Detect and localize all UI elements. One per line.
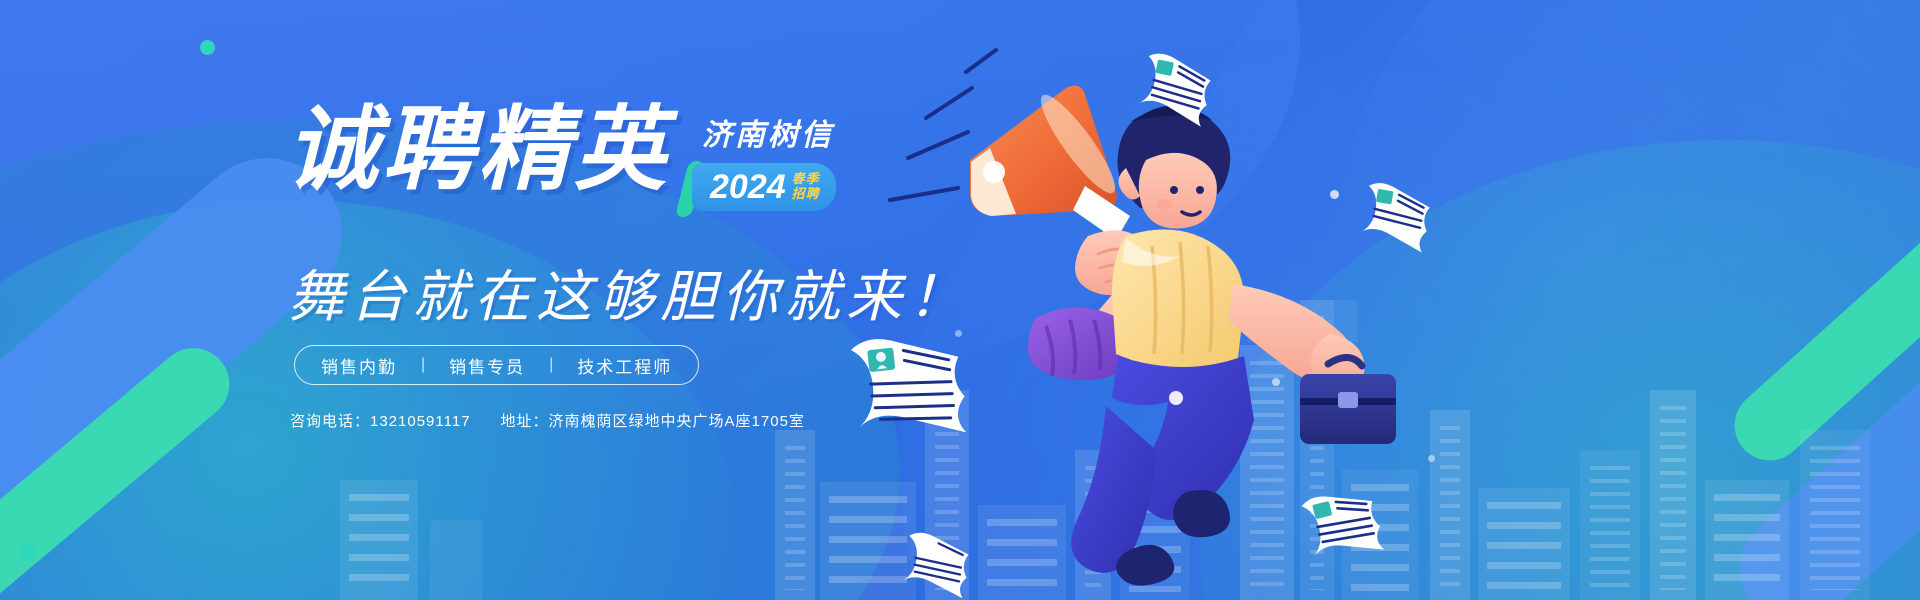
character-arm-extended <box>1228 284 1365 389</box>
building-silhouette <box>1800 430 1870 600</box>
headline-row: 诚聘精英 济南树信 2024 春季 招聘 <box>286 104 836 211</box>
banner-text-content: 诚聘精英 济南树信 2024 春季 招聘 舞台就在这够胆你就来！ 销售内勤 <box>0 0 900 600</box>
brand-name: 济南树信 <box>702 110 836 154</box>
recruitment-banner: 诚聘精英 济南树信 2024 春季 招聘 舞台就在这够胆你就来！ 销售内勤 <box>0 0 1920 600</box>
character-torso <box>1112 230 1244 369</box>
megaphone-icon <box>970 86 1130 240</box>
resume-paper <box>1359 181 1433 253</box>
resume-paper <box>1300 484 1385 567</box>
tag-separator: | <box>421 356 425 374</box>
building-silhouette <box>1478 488 1570 600</box>
contact-address: 地址：济南槐荫区绿地中央广场A座1705室 <box>501 410 805 431</box>
resume-paper <box>902 531 972 598</box>
recruitment-badge: 2024 春季 招聘 <box>688 163 836 211</box>
contact-info: 咨询电话：13210591117 地址：济南槐荫区绿地中央广场A座1705室 <box>290 410 805 431</box>
building-silhouette <box>1705 480 1789 600</box>
job-tag-technical-engineer[interactable]: 技术工程师 <box>577 353 672 378</box>
job-tag-sales-assistant[interactable]: 销售内勤 <box>321 353 397 378</box>
badge-year: 2024 <box>710 170 786 204</box>
building-silhouette <box>1580 450 1640 600</box>
badge-subtext-line1: 春季 <box>792 172 820 187</box>
character-head <box>1117 105 1230 228</box>
subheadline: 舞台就在这够胆你就来！ <box>288 252 970 333</box>
badge-subtext: 春季 招聘 <box>792 172 820 201</box>
page-title: 诚聘精英 <box>286 104 670 196</box>
job-tag-sales-specialist[interactable]: 销售专员 <box>449 353 525 378</box>
tag-separator: | <box>549 356 553 374</box>
job-tag-bar: 销售内勤 | 销售专员 | 技术工程师 <box>294 345 699 385</box>
badge-subtext-line2: 招聘 <box>792 187 820 202</box>
brand-block: 济南树信 2024 春季 招聘 <box>688 104 836 211</box>
contact-phone: 咨询电话：13210591117 <box>290 410 471 431</box>
character-legs <box>1071 356 1254 573</box>
badge-body: 2024 春季 招聘 <box>692 163 836 211</box>
building-silhouette <box>1650 390 1696 600</box>
